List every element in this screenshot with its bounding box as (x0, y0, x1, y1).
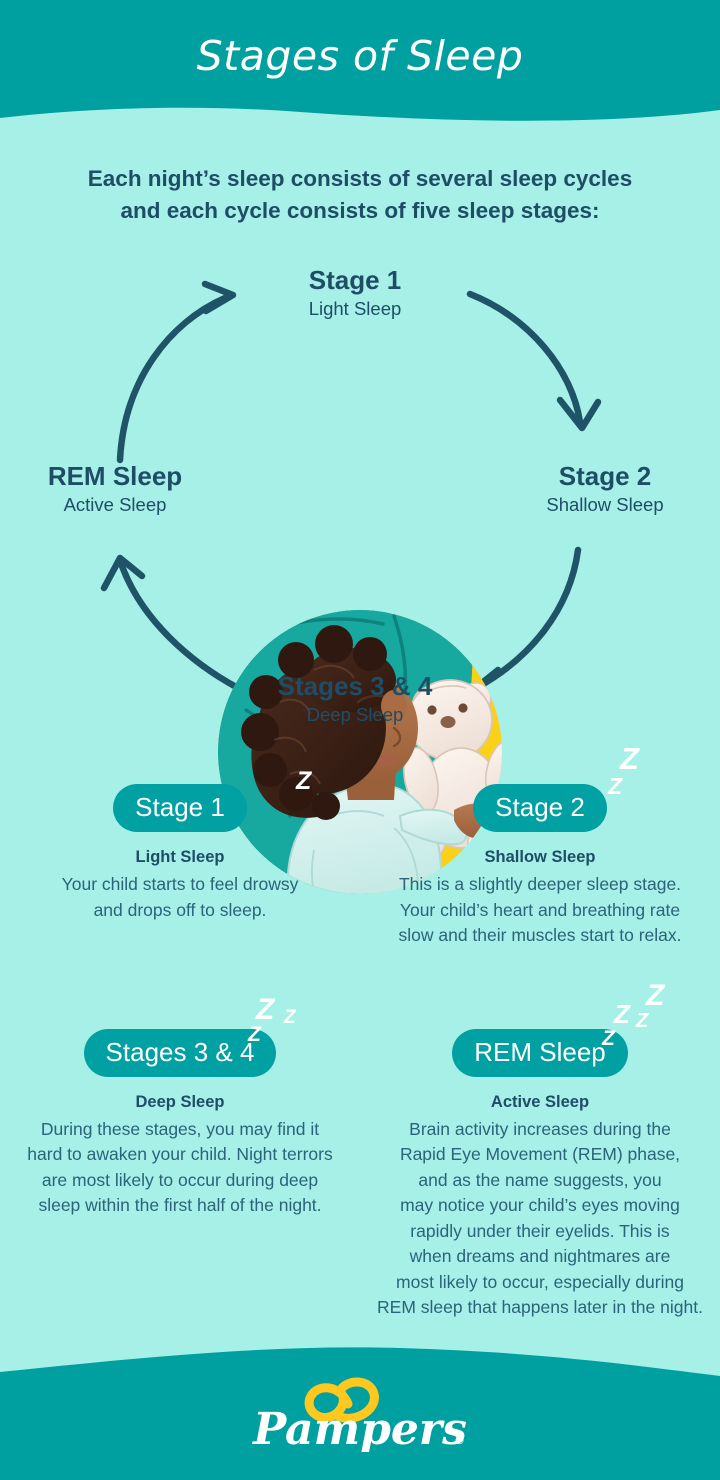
cycle-node-bottom: Stages 3 & 4 Deep Sleep (200, 670, 510, 728)
arrow-rem-to-stage1 (120, 298, 225, 460)
stage-card-stage-2: Stage 2 Z Z Shallow Sleep This is a slig… (360, 770, 720, 949)
cycle-node-bottom-subtitle: Deep Sleep (200, 702, 510, 728)
stage-card-stage-1: Stage 1 Z Light Sleep Your child starts … (0, 770, 360, 949)
stage-1-body-line: and drops off to sleep. (22, 898, 338, 924)
stage-card-rem-sleep: REM Sleep Z Z Z Z Active Sleep Brain act… (360, 1015, 720, 1321)
rem-sleep-body-line: when dreams and nightmares are (376, 1244, 704, 1270)
z-icon: Z (284, 1008, 296, 1027)
stage-2-body-line: This is a slightly deeper sleep stage. (376, 872, 704, 898)
stages-3-4-body-line: hard to awaken your child. Night terrors (22, 1142, 338, 1168)
rem-sleep-body-line: REM sleep that happens later in the nigh… (376, 1295, 704, 1321)
rem-sleep-body-line: Rapid Eye Movement (REM) phase, (376, 1142, 704, 1168)
rem-sleep-body-line: rapidly under their eyelids. This is (376, 1219, 704, 1245)
rem-sleep-body-line: and as the name suggests, you (376, 1168, 704, 1194)
cycle-node-right: Stage 2 Shallow Sleep (490, 460, 720, 518)
infographic-page: Stages of Sleep Each night’s sleep consi… (0, 0, 720, 1480)
stage-2-body-line: slow and their muscles start to relax. (376, 923, 704, 949)
z-icon: Z (646, 981, 664, 1011)
intro-subtitle: Each night’s sleep consists of several s… (50, 163, 670, 227)
z-icon: Z (636, 1011, 648, 1031)
rem-sleep-badge-wrap: REM Sleep Z Z Z Z (376, 1015, 704, 1077)
rem-sleep-body: Brain activity increases during the Rapi… (376, 1117, 704, 1321)
stages-3-4-body-line: sleep within the first half of the night… (22, 1193, 338, 1219)
stage-1-badge-wrap: Stage 1 Z (22, 770, 338, 832)
z-icon: Z (614, 1001, 630, 1027)
stage-card-stages-3-4: Stages 3 & 4 Z Z Z Deep Sleep During the… (0, 1015, 360, 1321)
page-title: Stages of Sleep (0, 0, 720, 112)
rem-sleep-body-line: Brain activity increases during the (376, 1117, 704, 1143)
footer-banner: Pampers ® (0, 1330, 720, 1480)
stage-2-body-line: Your child’s heart and breathing rate (376, 898, 704, 924)
cycle-node-right-title: Stage 2 (490, 460, 720, 492)
stages-3-4-body-line: are most likely to occur during deep (22, 1168, 338, 1194)
stage-1-body: Your child starts to feel drowsy and dro… (22, 872, 338, 923)
rem-sleep-body-line: most likely to occur, especially during (376, 1270, 704, 1296)
z-icon: Z (608, 775, 622, 798)
stage-2-badge-wrap: Stage 2 Z Z (376, 770, 704, 832)
sleep-cycle-diagram: Stage 1 Light Sleep Stage 2 Shallow Slee… (0, 250, 720, 760)
stage-cards-row-2: Stages 3 & 4 Z Z Z Deep Sleep During the… (0, 1015, 720, 1321)
cycle-node-top-title: Stage 1 (210, 264, 500, 296)
stages-3-4-badge[interactable]: Stages 3 & 4 (84, 1029, 277, 1077)
stages-3-4-body: During these stages, you may find it har… (22, 1117, 338, 1219)
cycle-node-left-subtitle: Active Sleep (0, 492, 230, 518)
cycle-node-left-title: REM Sleep (0, 460, 230, 492)
cycle-node-top: Stage 1 Light Sleep (210, 264, 500, 322)
stage-cards-row-1: Stage 1 Z Light Sleep Your child starts … (0, 770, 720, 949)
rem-sleep-subtitle: Active Sleep (376, 1091, 704, 1113)
z-icon: Z (256, 995, 274, 1025)
pampers-logo[interactable]: Pampers ® (0, 1374, 720, 1452)
arrow-stage2-to-stage34 (478, 550, 578, 687)
cycle-node-left: REM Sleep Active Sleep (0, 460, 230, 518)
pampers-logo-artwork: Pampers ® (250, 1374, 470, 1452)
subtitle-line-1: Each night’s sleep consists of several s… (50, 163, 670, 195)
stages-3-4-body-line: During these stages, you may find it (22, 1117, 338, 1143)
z-icon: Z (296, 769, 311, 794)
stage-1-body-line: Your child starts to feel drowsy (22, 872, 338, 898)
stage-1-badge[interactable]: Stage 1 (113, 784, 247, 832)
registered-trademark: ® (454, 1434, 465, 1447)
cycle-node-right-subtitle: Shallow Sleep (490, 492, 720, 518)
stages-3-4-badge-wrap: Stages 3 & 4 Z Z Z (22, 1015, 338, 1077)
header-banner: Stages of Sleep (0, 0, 720, 145)
stage-2-subtitle: Shallow Sleep (376, 846, 704, 868)
pampers-wordmark: Pampers (251, 1404, 467, 1452)
rem-sleep-badge[interactable]: REM Sleep (452, 1029, 628, 1077)
stages-3-4-subtitle: Deep Sleep (22, 1091, 338, 1113)
cycle-node-top-subtitle: Light Sleep (210, 296, 500, 322)
stage-1-subtitle: Light Sleep (22, 846, 338, 868)
cycle-node-bottom-title: Stages 3 & 4 (200, 670, 510, 702)
subtitle-line-2: and each cycle consists of five sleep st… (50, 195, 670, 227)
stage-2-badge[interactable]: Stage 2 (473, 784, 607, 832)
rem-sleep-body-line: may notice your child’s eyes moving (376, 1193, 704, 1219)
stage-cards-section: Stage 1 Z Light Sleep Your child starts … (0, 770, 720, 1321)
stage-2-body: This is a slightly deeper sleep stage. Y… (376, 872, 704, 949)
